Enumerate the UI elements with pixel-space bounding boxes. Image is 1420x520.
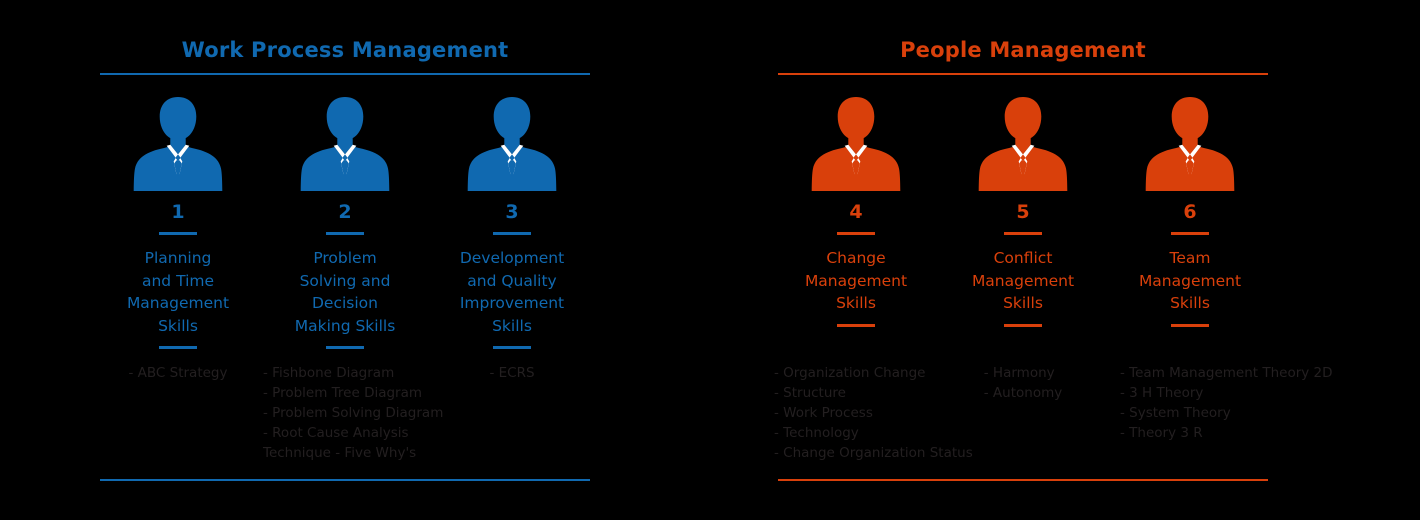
column-title-3: Developmentand QualityImprovementSkills [432, 247, 592, 337]
column-title-1: Planningand TimeManagementSkills [98, 247, 258, 337]
column-number-3: 3 [505, 201, 518, 223]
group-bottom-rule-right [778, 479, 1268, 481]
column-divider-upper-3 [493, 232, 531, 235]
column-number-5: 5 [1016, 201, 1029, 223]
column-divider-upper-6 [1171, 232, 1209, 235]
column-divider-upper-5 [1004, 232, 1042, 235]
group-top-rule-right [778, 73, 1268, 75]
column-5[interactable]: 5 ConflictManagementSkills - Harmony- Au… [945, 95, 1101, 475]
columns-right: 4 ChangeManagementSkills - Organization … [778, 95, 1268, 475]
group-people-management: People Management 4 ChangeManagementSkil… [778, 0, 1268, 520]
column-bullets-6: - Team Management Theory 2D- 3 H Theory-… [1120, 363, 1333, 443]
column-divider-lower-3 [493, 346, 531, 349]
group-bottom-rule-left [100, 479, 590, 481]
businessman-silhouette-icon [132, 95, 224, 191]
column-2[interactable]: 2 ProblemSolving andDecisionMaking Skill… [267, 95, 423, 475]
column-title-4: ChangeManagementSkills [776, 247, 936, 315]
column-bullets-5: - Harmony- Autonomy [984, 363, 1062, 403]
businessman-silhouette-icon [977, 95, 1069, 191]
column-divider-upper-1 [159, 232, 197, 235]
businessman-silhouette-icon [810, 95, 902, 191]
column-bullets-4: - Organization Change- Structure- Work P… [774, 363, 973, 463]
column-divider-upper-2 [326, 232, 364, 235]
column-number-1: 1 [171, 201, 184, 223]
group-work-process-management: Work Process Management 1 Planningand Ti… [100, 0, 590, 520]
column-number-6: 6 [1183, 201, 1196, 223]
column-number-2: 2 [338, 201, 351, 223]
group-title-people-management: People Management [778, 37, 1268, 63]
businessman-silhouette-icon [466, 95, 558, 191]
column-divider-lower-6 [1171, 324, 1209, 327]
column-bullets-2: - Fishbone Diagram- Problem Tree Diagram… [263, 363, 443, 463]
column-divider-upper-4 [837, 232, 875, 235]
column-title-5: ConflictManagementSkills [943, 247, 1103, 315]
column-title-6: TeamManagementSkills [1110, 247, 1270, 315]
group-top-rule-left [100, 73, 590, 75]
column-divider-lower-2 [326, 346, 364, 349]
column-6[interactable]: 6 TeamManagementSkills - Team Management… [1112, 95, 1268, 475]
columns-left: 1 Planningand TimeManagementSkills - ABC… [100, 95, 590, 475]
infographic-canvas: Work Process Management 1 Planningand Ti… [0, 0, 1420, 520]
column-divider-lower-5 [1004, 324, 1042, 327]
column-divider-lower-1 [159, 346, 197, 349]
column-bullets-1: - ABC Strategy [129, 363, 228, 383]
column-title-2: ProblemSolving andDecisionMaking Skills [265, 247, 425, 337]
column-3[interactable]: 3 Developmentand QualityImprovementSkill… [434, 95, 590, 475]
column-bullets-3: - ECRS [489, 363, 534, 383]
column-number-4: 4 [849, 201, 862, 223]
column-4[interactable]: 4 ChangeManagementSkills - Organization … [778, 95, 934, 475]
group-title-work-process-management: Work Process Management [100, 37, 590, 63]
column-1[interactable]: 1 Planningand TimeManagementSkills - ABC… [100, 95, 256, 475]
column-divider-lower-4 [837, 324, 875, 327]
businessman-silhouette-icon [1144, 95, 1236, 191]
businessman-silhouette-icon [299, 95, 391, 191]
